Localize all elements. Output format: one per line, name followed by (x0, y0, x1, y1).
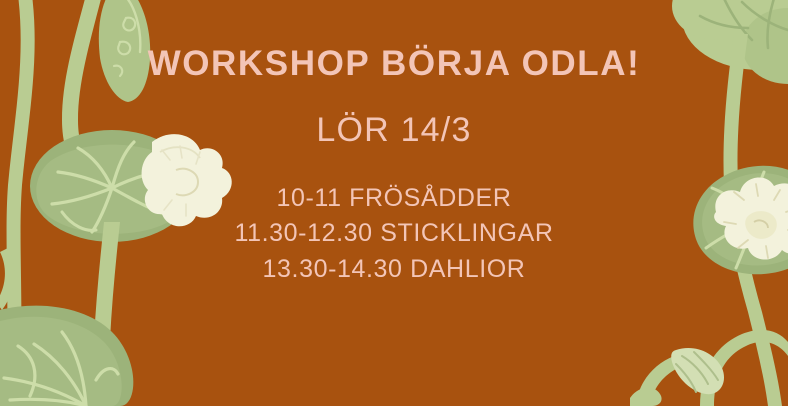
schedule-list: 10-11 FRÖSÅDDER 11.30-12.30 STICKLINGAR … (234, 185, 553, 282)
schedule-item-2: 11.30-12.30 STICKLINGAR (234, 220, 553, 246)
workshop-poster: WORKSHOP BÖRJA ODLA! LÖR 14/3 10-11 FRÖS… (0, 0, 788, 406)
page-title: WORKSHOP BÖRJA ODLA! (148, 46, 641, 81)
schedule-item-3: 13.30-14.30 DAHLIOR (263, 256, 526, 282)
schedule-item-1: 10-11 FRÖSÅDDER (276, 185, 511, 211)
poster-date: LÖR 14/3 (316, 113, 471, 147)
poster-text-stack: WORKSHOP BÖRJA ODLA! LÖR 14/3 10-11 FRÖS… (0, 0, 788, 406)
